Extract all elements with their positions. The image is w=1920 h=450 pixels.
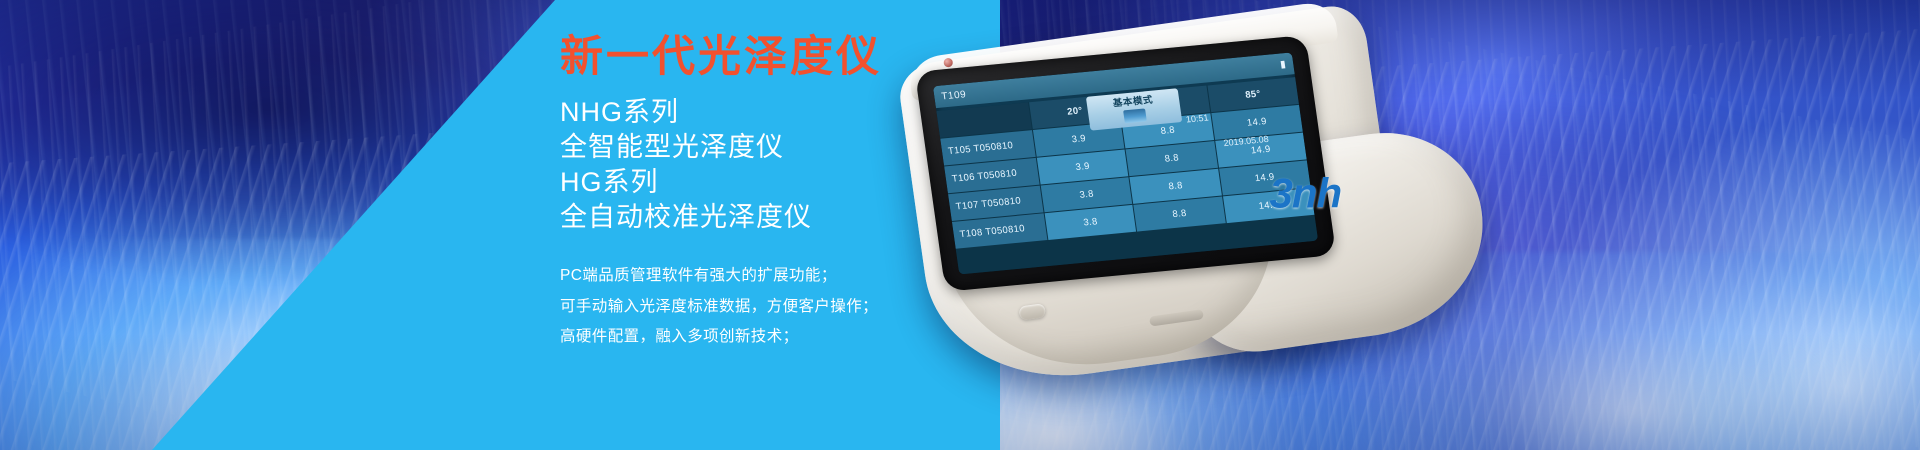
device-screen-bezel: T109 ▮ 20° 60° 85° T105 T050810 3.9 8.8 … xyxy=(915,35,1337,292)
screen-sample-id: T109 xyxy=(941,89,967,102)
measure-icon xyxy=(1123,108,1147,123)
screen-time: 10:51 xyxy=(1185,113,1209,125)
gloss-meter-device: T109 ▮ 20° 60° 85° T105 T050810 3.9 8.8 … xyxy=(854,0,1526,450)
product-banner: 新一代光泽度仪 NHG系列 全智能型光泽度仪 HG系列 全自动校准光泽度仪 PC… xyxy=(0,0,1920,450)
brand-logo: 3nh xyxy=(1269,170,1341,218)
screen-battery-icon: ▮ xyxy=(1279,58,1287,69)
device-lcd-screen[interactable]: T109 ▮ 20° 60° 85° T105 T050810 3.9 8.8 … xyxy=(933,52,1318,274)
screen-mode-tab-label: 基本模式 xyxy=(1112,92,1154,110)
